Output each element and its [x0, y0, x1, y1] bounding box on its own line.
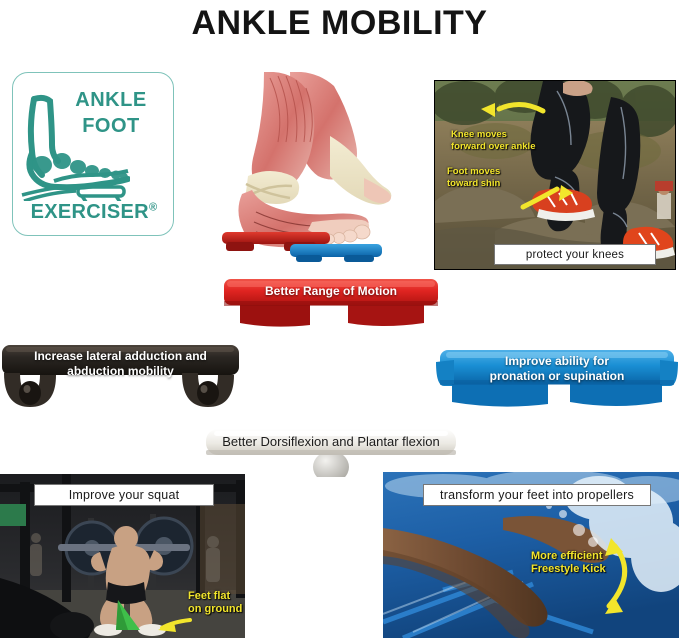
board-blue-label: Improve ability for pronation or supinat… [436, 354, 678, 384]
annotation-line: toward shin [447, 178, 500, 189]
annotation-freestyle-kick: More efficient Freestyle Kick [531, 550, 606, 576]
annotation-foot-moves: Foot moves toward shin [447, 166, 500, 190]
photo-protect-your-knees: Knee moves forward over ankle Foot moves… [434, 80, 676, 270]
caption-protect-your-knees: protect your knees [494, 244, 656, 265]
board-blue-label-line-1: Improve ability for [505, 354, 609, 368]
board-white-label: Better Dorsiflexion and Plantar flexion [206, 434, 456, 449]
annotation-line: Feet flat [188, 590, 230, 602]
logo-line-2: FOOT [82, 115, 140, 137]
caption-transform-feet-into-propellers: transform your feet into propellers [423, 484, 651, 506]
logo-line-1: ANKLE [75, 89, 146, 111]
ankle-anatomy-illustration [212, 72, 392, 262]
logo-line-3: EXERCISER [31, 201, 149, 223]
annotation-knee-moves: Knee moves forward over ankle [451, 129, 535, 153]
logo-wordmark: ANKLE FOOT [59, 87, 163, 139]
board-blue-label-line-2: pronation or supination [490, 369, 625, 383]
annotation-line: More efficient [531, 550, 603, 562]
logo-line-3-wrap: EXERCISER® [19, 201, 169, 224]
board-black-label-line-2: abduction mobility [67, 364, 174, 378]
caption-improve-your-squat: Improve your squat [34, 484, 214, 506]
brand-logo: ANKLE FOOT EXERCISER® [12, 72, 174, 236]
board-red-range-of-motion: Better Range of Motion [224, 279, 438, 327]
annotation-line: Freestyle Kick [531, 563, 606, 575]
annotation-line: on ground [188, 603, 242, 615]
logo-trademark: ® [149, 201, 157, 213]
board-black-label: Increase lateral adduction and abduction… [2, 349, 239, 379]
poster-canvas: ANKLE MOBILITY [0, 0, 679, 638]
annotation-line: Knee moves [451, 129, 507, 140]
annotation-feet-flat: Feet flat on ground [188, 590, 242, 616]
board-red-label: Better Range of Motion [224, 284, 438, 299]
page-title: ANKLE MOBILITY [0, 0, 679, 46]
board-black-lateral-mobility: Increase lateral adduction and abduction… [2, 345, 239, 410]
board-white-dorsiflexion: Better Dorsiflexion and Plantar flexion [206, 429, 456, 477]
board-black-label-line-1: Increase lateral adduction and [34, 349, 207, 363]
annotation-line: Foot moves [447, 166, 500, 177]
board-blue-pronation-supination: Improve ability for pronation or supinat… [436, 348, 678, 412]
anatomy-blue-board [290, 244, 382, 262]
annotation-line: forward over ankle [451, 141, 535, 152]
